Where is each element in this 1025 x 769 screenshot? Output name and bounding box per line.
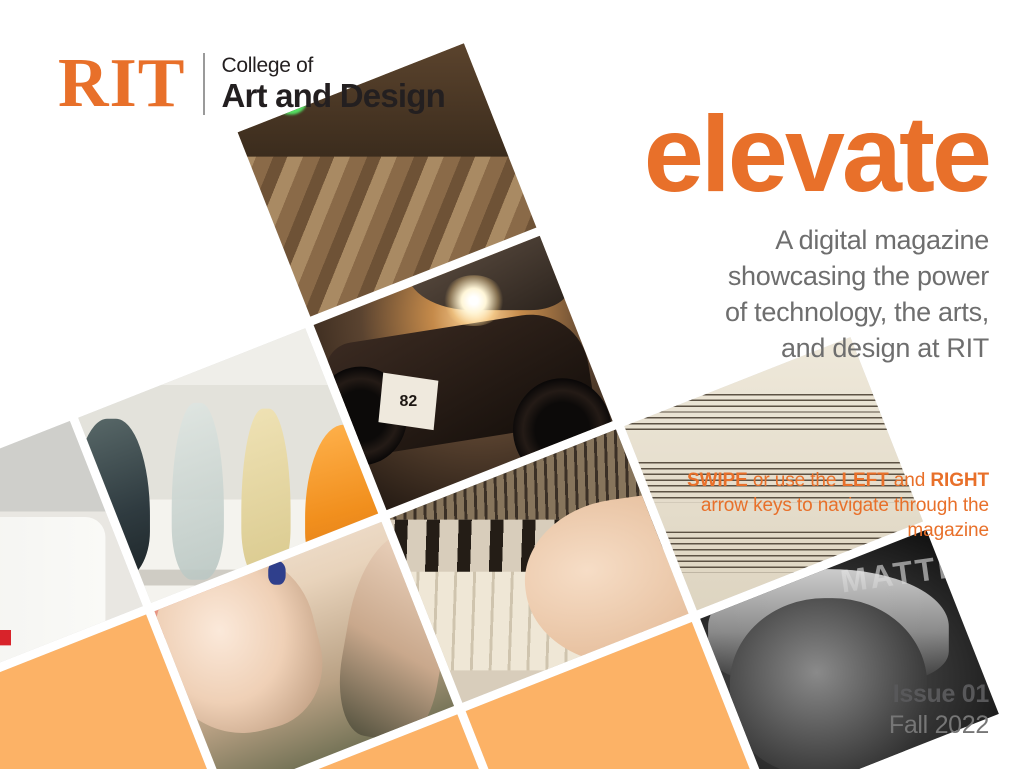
rit-wordmark: RIT xyxy=(58,49,185,119)
rit-logo: RIT College of Art and Design xyxy=(58,48,445,120)
color-block-peach xyxy=(465,622,764,769)
logo-divider xyxy=(203,53,205,115)
color-block-peach xyxy=(0,614,219,769)
logo-college-label: College of xyxy=(221,54,445,78)
logo-department-label: Art and Design xyxy=(221,78,445,114)
nav-text-and: and xyxy=(889,470,931,491)
issue-number: Issue 01 xyxy=(889,679,989,710)
photo-harpsichord-hands xyxy=(389,429,688,703)
photo-ambulance-team xyxy=(0,421,143,695)
photo-fashion-portrait xyxy=(154,522,453,769)
left-key-label: LEFT xyxy=(842,470,889,491)
tagline-line-2: showcasing the power xyxy=(569,258,989,294)
logo-lockup-text: College of Art and Design xyxy=(221,54,445,114)
tagline: A digital magazine showcasing the power … xyxy=(569,222,989,366)
blank-tile xyxy=(3,136,302,410)
cover-page: 82 TOCCATA xyxy=(0,0,1025,769)
right-key-label: RIGHT xyxy=(930,470,989,491)
nav-text-tail: arrow keys to navigate through the magaz… xyxy=(701,495,989,541)
color-block-peach xyxy=(230,714,529,769)
issue-info: Issue 01 Fall 2022 xyxy=(889,679,989,741)
photo-motorcycle: 82 xyxy=(313,236,612,510)
issue-date: Fall 2022 xyxy=(889,710,989,741)
tagline-line-4: and design at RIT xyxy=(569,330,989,366)
motorcycle-number: 82 xyxy=(378,373,438,430)
nav-text-after-swipe: or use the xyxy=(748,470,842,491)
navigation-instructions: SWIPE or use the LEFT and RIGHT arrow ke… xyxy=(659,468,989,543)
blank-tile xyxy=(0,228,67,502)
swipe-label: SWIPE xyxy=(687,470,748,491)
tagline-line-3: of technology, the arts, xyxy=(569,294,989,330)
tagline-line-1: A digital magazine xyxy=(569,222,989,258)
page-title: elevate xyxy=(644,104,989,204)
photo-glass-vessels xyxy=(79,329,378,603)
portrait-background-text: MATTERS xyxy=(838,539,999,600)
